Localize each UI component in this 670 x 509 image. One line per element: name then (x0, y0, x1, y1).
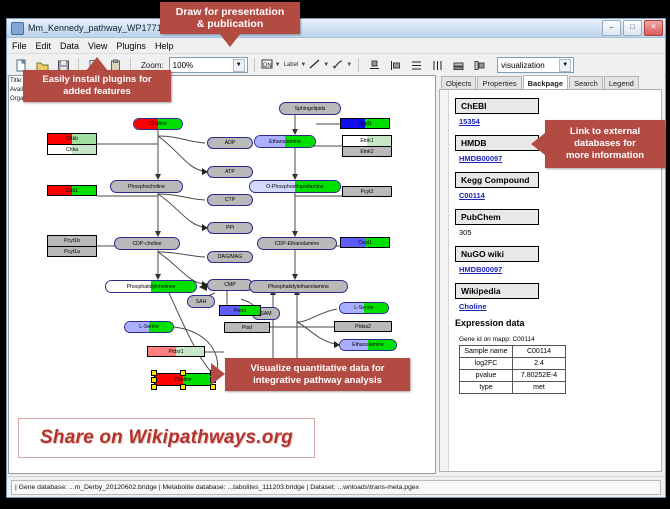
node-label: Pemt (234, 308, 246, 314)
node-label: Ptdsr1 (169, 349, 184, 355)
pathway-canvas[interactable]: Title: Availa Organ (8, 75, 436, 474)
zoom-label: Zoom: (141, 61, 164, 70)
distribute-vertical-icon[interactable] (407, 56, 425, 74)
node-label: Phosphatidylethanolamine (268, 284, 329, 290)
selection-handle[interactable] (151, 377, 157, 383)
chevron-down-icon[interactable]: ▼ (300, 62, 306, 68)
minimize-button[interactable]: – (602, 20, 621, 36)
db-link-kegg-compound[interactable]: C00114 (459, 191, 655, 200)
node-label: ATP (225, 169, 235, 175)
selection-handle[interactable] (151, 370, 157, 376)
tab-backpage[interactable]: Backpage (523, 75, 568, 89)
backpage-scrollbar[interactable] (440, 90, 449, 471)
group-icon[interactable] (470, 56, 488, 74)
node-cmp[interactable]: CMP (207, 279, 253, 291)
callout-visualize: Visualize quantitative data for integrat… (225, 358, 410, 391)
callout-share: Share on Wikipathways.org (18, 418, 315, 458)
node-etnk2[interactable]: Etnk2 (342, 146, 392, 157)
visualization-select[interactable]: visualization ▼ (497, 57, 574, 73)
stack-icon[interactable] (449, 56, 467, 74)
callout-draw: Draw for presentation & publication (160, 2, 300, 34)
node-label: L-Serine (354, 305, 374, 311)
node-label: Ethanolamine (269, 139, 301, 145)
node-label: Pcyt2 (361, 189, 374, 195)
node-ppi[interactable]: PPi (207, 222, 253, 234)
node-sgpl1[interactable]: Sgpl1 (340, 118, 390, 129)
node-label: Sgpl1 (358, 121, 371, 127)
node-ptdss2[interactable]: Ptdss2 (334, 321, 392, 332)
selection-handle[interactable] (180, 370, 186, 376)
db-link-wikipedia[interactable]: Choline (459, 302, 655, 311)
node-choline-top[interactable]: Choline (133, 118, 183, 130)
node-label: CDP-choline (132, 241, 161, 247)
node-pcyt1a[interactable]: Pcyt1a (47, 246, 97, 257)
expr-value: C00114 (513, 346, 566, 358)
menu-data[interactable]: Data (60, 41, 79, 51)
node-pisd[interactable]: Pisd (224, 322, 270, 333)
node-pcyt1b[interactable]: Pcyt1b (47, 235, 97, 246)
selection-handle[interactable] (151, 384, 157, 390)
side-panel-tabs: Objects Properties Backpage Search Legen… (437, 75, 664, 89)
expr-value: 7.80252E-4 (513, 370, 566, 382)
label-dropdown[interactable]: Label ▼ (284, 62, 307, 68)
expr-value: 2.4 (513, 358, 566, 370)
table-row: Sample name C00114 (460, 346, 566, 358)
callout-plugins: Easily install plugins for added feature… (23, 70, 171, 102)
close-button[interactable]: ✕ (644, 20, 663, 36)
node-sphingolipids[interactable]: Sphingolipids (279, 102, 341, 115)
menu-plugins[interactable]: Plugins (116, 41, 146, 51)
node-label: Etnk1 (360, 138, 373, 144)
node-etnk1[interactable]: Etnk1 (342, 135, 392, 146)
node-label: SAM (260, 311, 271, 317)
node-label: Cept1 (358, 240, 372, 246)
chevron-down-icon[interactable]: ▼ (323, 62, 329, 68)
app-icon (11, 22, 24, 35)
menubar: File Edit Data View Plugins Help (7, 38, 665, 54)
node-label: Choline (174, 377, 192, 383)
line-icon[interactable] (309, 58, 321, 72)
distribute-horizontal-icon[interactable] (428, 56, 446, 74)
node-pcyt2[interactable]: Pcyt2 (342, 186, 392, 197)
maximize-button[interactable]: □ (623, 20, 642, 36)
db-header-wikipedia: Wikipedia (455, 283, 539, 299)
expr-value: met (513, 382, 566, 394)
expr-key: Sample name (460, 346, 513, 358)
node-l-serine-right[interactable]: L-Serine (339, 302, 389, 314)
callout-links-arrow (531, 133, 545, 155)
window-titlebar: Mm_Kennedy_pathway_WP1771_45176.gpml – □… (7, 19, 665, 38)
label-icon[interactable]: Label (284, 62, 299, 68)
node-label: Chkb (66, 136, 78, 142)
interaction-dropdown[interactable]: ▼ (332, 58, 352, 72)
node-pemt[interactable]: Pemt (219, 305, 261, 316)
node-ctpt1[interactable]: Ctpt1 (47, 185, 97, 196)
screenshot-root: Mm_Kennedy_pathway_WP1771_45176.gpml – □… (0, 0, 670, 509)
expression-table: Sample name C00114 log2FC 2.4 pvalue 7.8… (459, 345, 566, 394)
node-label: Ctpt1 (66, 188, 78, 194)
align-bottom-icon[interactable] (365, 56, 383, 74)
tab-search[interactable]: Search (569, 76, 603, 89)
interaction-icon[interactable] (332, 58, 344, 72)
toolbar-separator (358, 58, 359, 72)
node-phosphatidylethanolamine[interactable]: Phosphatidylethanolamine (249, 280, 348, 293)
node-label: Etnk2 (360, 149, 373, 155)
db-link-nugo-wiki[interactable]: HMDB00097 (459, 265, 655, 274)
node-label: Pcyt1b (64, 238, 80, 244)
node-o-phosphoethanolamine[interactable]: O-Phosphoethanolamine (249, 180, 341, 193)
node-label: Pisd (242, 325, 252, 331)
align-left-icon[interactable] (386, 56, 404, 74)
node-ptdsr1[interactable]: Ptdsr1 (147, 346, 205, 357)
node-label: DAG/MAG (218, 254, 243, 260)
node-phosphatidylcholines[interactable]: Phosphatidylcholines (105, 280, 197, 293)
node-label: Choline (149, 121, 167, 127)
node-atp[interactable]: ATP (207, 166, 253, 178)
table-row: type met (460, 382, 566, 394)
share-text: Share on Wikipathways.org (40, 427, 293, 449)
node-label: Pcyt1a (64, 249, 80, 255)
db-header-hmdb: HMDB (455, 135, 539, 151)
chevron-down-icon[interactable]: ▼ (559, 59, 571, 72)
table-row: log2FC 2.4 (460, 358, 566, 370)
node-adp[interactable]: ADP (207, 137, 253, 149)
visualization-value: visualization (501, 61, 545, 70)
node-label: ADP (225, 140, 236, 146)
tab-legend[interactable]: Legend (604, 76, 639, 89)
menu-edit[interactable]: Edit (36, 41, 52, 51)
node-label: L-Serine (139, 324, 159, 330)
node-label: Chka (66, 147, 78, 153)
gene-id-line: Gene id on mapp: C00114 (459, 336, 655, 343)
node-cdp-choline[interactable]: CDP-choline (114, 237, 180, 250)
chevron-down-icon[interactable]: ▼ (275, 62, 281, 68)
node-label: Phosphocholine (128, 184, 165, 190)
expr-key: type (460, 382, 513, 394)
menu-file[interactable]: File (12, 41, 27, 51)
node-sah[interactable]: SAH (187, 295, 215, 308)
callout-plugins-arrow (86, 57, 108, 71)
db-value-pubchem: 305 (459, 228, 655, 237)
statusbar: | Gene database: ...m_Derby_20120602.bri… (7, 476, 665, 497)
db-header-nugo-wiki: NuGO wiki (455, 246, 539, 262)
window-controls: – □ ✕ (602, 20, 663, 36)
menu-view[interactable]: View (88, 41, 107, 51)
node-label: SAH (196, 299, 207, 305)
expression-data-heading: Expression data (455, 318, 655, 328)
datanode-icon[interactable]: DN (261, 58, 273, 72)
zoom-value: 100% (173, 61, 193, 70)
callout-links: Link to external databases for more info… (545, 120, 665, 168)
statusbar-text: | Gene database: ...m_Derby_20120602.bri… (11, 480, 661, 495)
db-header-kegg-compound: Kegg Compound (455, 172, 539, 188)
expr-key: pvalue (460, 370, 513, 382)
tab-properties[interactable]: Properties (477, 76, 521, 89)
node-chkb[interactable]: Chkb (47, 133, 97, 144)
node-l-serine-left[interactable]: L-Serine (124, 321, 174, 333)
node-label: PPi (226, 225, 234, 231)
callout-draw-arrow (219, 33, 241, 47)
node-label: Sphingolipids (295, 106, 326, 112)
node-phosphocholine[interactable]: Phosphocholine (110, 180, 183, 193)
node-ethanolamine-top[interactable]: Ethanolamine (254, 135, 316, 148)
node-label: O-Phosphoethanolamine (266, 184, 323, 190)
node-cept1[interactable]: Cept1 (340, 237, 390, 248)
node-chka[interactable]: Chka (47, 144, 97, 155)
zoom-select[interactable]: 100% ▼ (169, 57, 248, 73)
node-ctp[interactable]: CTP (207, 194, 253, 206)
tab-objects[interactable]: Objects (441, 76, 476, 89)
node-cdp-ethanolamine[interactable]: CDP-Ethanolamine (257, 237, 337, 250)
table-row: pvalue 7.80252E-4 (460, 370, 566, 382)
toolbar-separator (254, 58, 255, 72)
chevron-down-icon[interactable]: ▼ (233, 59, 245, 72)
node-label: Phosphatidylcholines (127, 284, 176, 290)
db-header-chebi: ChEBI (455, 98, 539, 114)
datanode-dropdown[interactable]: DN ▼ (261, 58, 281, 72)
db-header-pubchem: PubChem (455, 209, 539, 225)
expr-key: log2FC (460, 358, 513, 370)
node-label: CTP (225, 197, 235, 203)
node-label: Ethanolamine (352, 342, 384, 348)
chevron-down-icon[interactable]: ▼ (346, 62, 352, 68)
node-label: CDP-Ethanolamine (275, 241, 319, 247)
menu-help[interactable]: Help (155, 41, 174, 51)
node-label: Ptdss2 (355, 324, 371, 330)
line-dropdown[interactable]: ▼ (309, 58, 329, 72)
callout-visualize-arrow (211, 363, 225, 385)
node-label: CMP (224, 282, 236, 288)
node-ethanolamine-bottom[interactable]: Ethanolamine (339, 339, 397, 351)
selection-handle[interactable] (180, 384, 186, 390)
node-dag-mag[interactable]: DAG/MAG (207, 251, 253, 263)
svg-text:DN: DN (263, 63, 272, 69)
